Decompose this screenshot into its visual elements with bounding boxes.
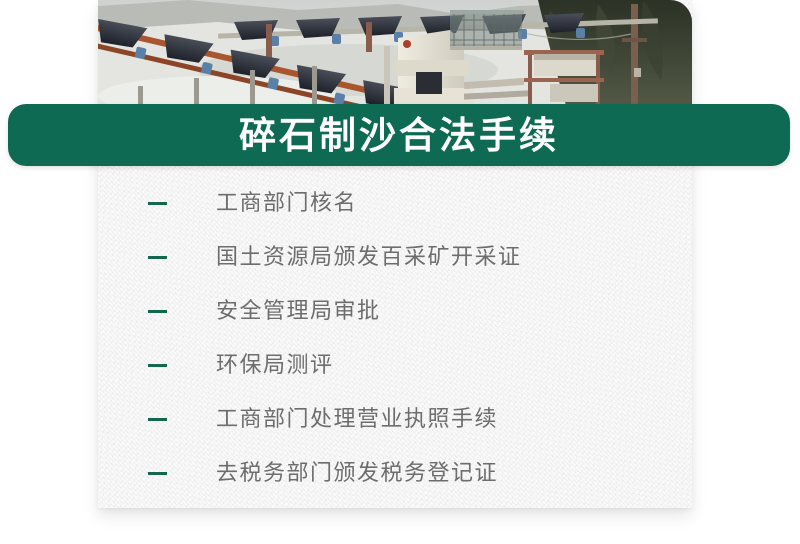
page-title: 碎石制沙合法手续 bbox=[239, 117, 559, 154]
list-item: 安全管理局审批 bbox=[98, 284, 692, 338]
dash-marker-icon bbox=[148, 472, 167, 475]
list-item-label: 环保局测评 bbox=[216, 354, 334, 376]
hero-photo bbox=[98, 0, 692, 112]
list-item-label: 工商部门处理营业执照手续 bbox=[216, 408, 498, 430]
dash-marker-icon bbox=[148, 364, 167, 367]
dash-marker-icon bbox=[148, 418, 167, 421]
quarry-conveyor-sand-making-plant-photo bbox=[98, 0, 692, 112]
list-item: 工商部门处理营业执照手续 bbox=[98, 392, 692, 446]
list-item: 去税务部门颁发税务登记证 bbox=[98, 446, 692, 500]
dash-marker-icon bbox=[148, 310, 167, 313]
infographic-page: 碎石制沙合法手续 工商部门核名 国土资源局颁发百采矿开采证 安全管理局审批 环保… bbox=[0, 0, 800, 544]
dash-marker-icon bbox=[148, 256, 167, 259]
list-item-label: 工商部门核名 bbox=[216, 192, 357, 214]
list-item-label: 安全管理局审批 bbox=[216, 300, 381, 322]
list-item: 工商部门核名 bbox=[98, 176, 692, 230]
list-item-label: 去税务部门颁发税务登记证 bbox=[216, 462, 498, 484]
list-item: 环保局测评 bbox=[98, 338, 692, 392]
dash-marker-icon bbox=[148, 202, 167, 205]
list-item: 国土资源局颁发百采矿开采证 bbox=[98, 230, 692, 284]
procedure-list: 工商部门核名 国土资源局颁发百采矿开采证 安全管理局审批 环保局测评 工商部门处… bbox=[98, 176, 692, 500]
list-item-label: 国土资源局颁发百采矿开采证 bbox=[216, 246, 522, 268]
title-banner: 碎石制沙合法手续 bbox=[8, 104, 790, 166]
